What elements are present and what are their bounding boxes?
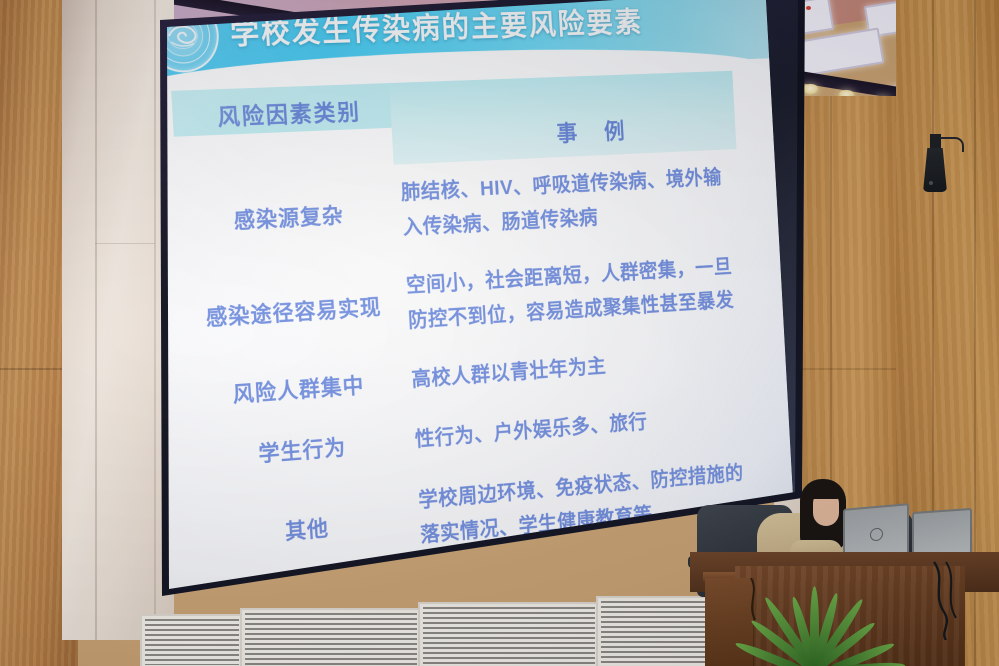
- slide-header-band: 学校发生传染病的主要风险要素: [150, 0, 769, 80]
- second-laptop[interactable]: [912, 508, 972, 558]
- vent-panel: [240, 608, 422, 666]
- vent-panel: [140, 614, 244, 666]
- presentation-slide: 学校发生传染病的主要风险要素 风险因素类别 事 例 感染源: [150, 0, 795, 592]
- table-header-category-label: 风险因素类别: [217, 93, 362, 132]
- row-category: 风险人群集中: [188, 365, 407, 412]
- risk-factor-table: 风险因素类别 事 例 感染源复杂 肺结核、HIV、呼吸道传染病、境外输入传染病、…: [171, 71, 757, 588]
- presenter-hair-front: [808, 481, 842, 499]
- lecture-hall-scene: 学校发生传染病的主要风险要素 风险因素类别 事 例 感染源: [0, 0, 999, 666]
- row-example: 肺结核、HIV、呼吸道传染病、境外输入传染病、肠道传染病: [394, 160, 740, 246]
- cables: [930, 560, 990, 640]
- row-example: 空间小，社会距离短，人群密集，一旦防控不到位，容易造成聚集性甚至暴发: [400, 249, 746, 339]
- row-category: 感染源复杂: [178, 196, 397, 239]
- row-category: 学生行为: [192, 425, 411, 473]
- row-category: 其他: [196, 504, 414, 554]
- table-header-example-label: 事 例: [556, 112, 636, 148]
- row-category: 感染途径容易实现: [183, 289, 402, 334]
- table-header-cell-category: 风险因素类别: [171, 83, 391, 137]
- laptop-brand-logo: [870, 527, 883, 541]
- potted-plant: [700, 590, 930, 666]
- vent-panel: [418, 602, 600, 666]
